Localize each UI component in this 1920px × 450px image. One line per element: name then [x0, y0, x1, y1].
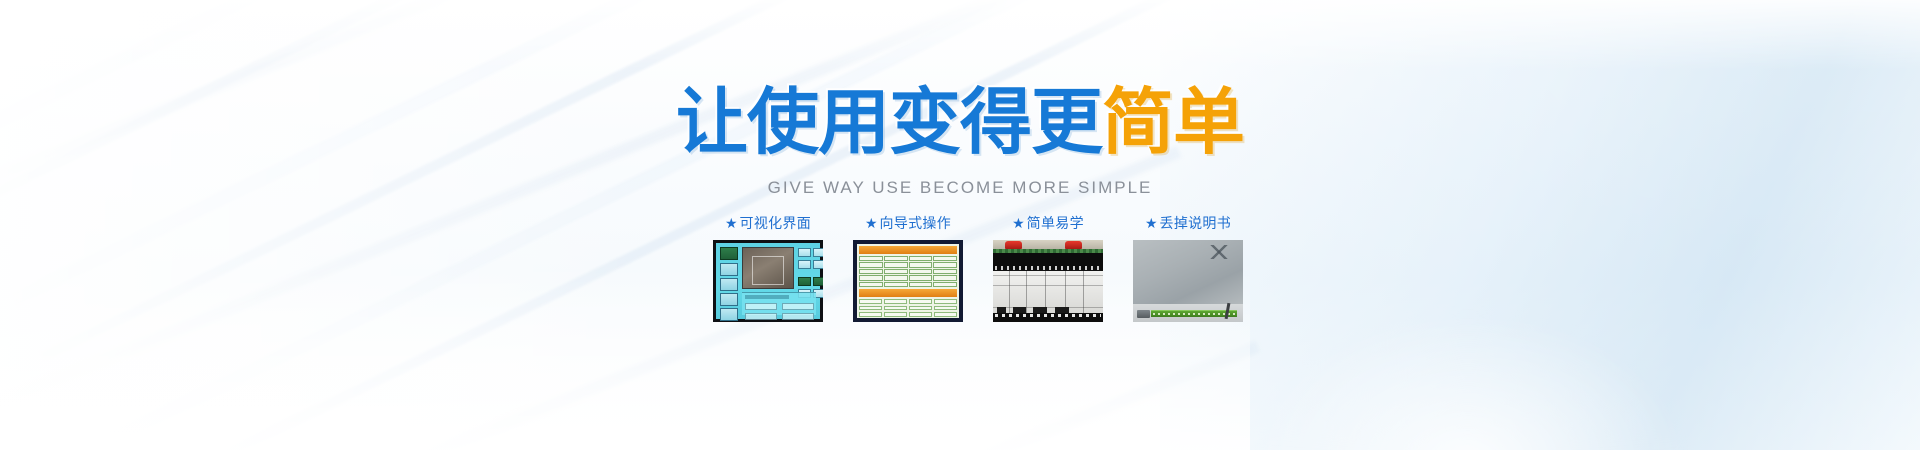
thumb-side-button — [720, 293, 738, 306]
thumb-camera-view — [742, 247, 794, 289]
thumb-checkbox-row — [782, 313, 814, 320]
thumb-grid-cell — [884, 299, 907, 304]
thumb-grid-cell — [859, 312, 882, 317]
thumb-grid-cell — [933, 256, 957, 261]
thumb-right-button — [798, 260, 811, 269]
thumb-grid-cell — [934, 299, 957, 304]
feature-list: ★ 可视化界面 — [698, 215, 1258, 322]
feature-item-visual-interface[interactable]: ★ 可视化界面 — [698, 215, 838, 322]
thumb-button-grid-top — [859, 256, 957, 287]
star-icon: ★ — [1145, 217, 1158, 231]
thumb-checkbox-row — [745, 303, 777, 310]
thumb-side-button — [720, 247, 738, 260]
banner-content: 让使用变得更简单 GIVE WAY USE BECOME MORE SIMPLE… — [0, 0, 1920, 450]
thumb-grid-cell — [859, 269, 883, 274]
feature-label-text: 可视化界面 — [740, 215, 812, 233]
thumb-right-button — [813, 277, 823, 286]
thumb-red-handle — [1005, 241, 1022, 249]
feature-thumbnail-easy-to-learn[interactable] — [993, 240, 1103, 322]
thumb-red-handle — [1065, 241, 1082, 249]
thumb-grid-cell — [909, 256, 933, 261]
banner-headline: 让使用变得更简单 — [0, 84, 1920, 160]
thumb-machine-bottom-band — [993, 313, 1103, 322]
thumb-section-header — [859, 289, 957, 297]
thumb-side-button — [720, 308, 738, 321]
feature-thumbnail-no-manual[interactable] — [1133, 240, 1243, 322]
thumb-grid-cell — [909, 299, 932, 304]
feature-label-text: 向导式操作 — [880, 215, 952, 233]
thumb-screen — [857, 244, 959, 318]
thumb-grid-cell — [909, 312, 932, 317]
thumb-grid-cell — [933, 262, 957, 267]
feature-thumbnail-wizard-operation[interactable] — [853, 240, 963, 322]
feature-item-easy-to-learn[interactable]: ★ 简单易学 — [978, 215, 1118, 322]
thumb-right-button — [813, 248, 823, 257]
thumb-device-marking — [1207, 245, 1231, 259]
thumb-grid-cell — [934, 306, 957, 311]
feature-item-no-manual[interactable]: ★ 丢掉说明书 — [1118, 215, 1258, 322]
thumb-grid-cell — [859, 262, 883, 267]
headline-accent-text: 简单 — [1102, 80, 1244, 164]
thumb-grid-cell — [859, 306, 882, 311]
thumb-grid-cell — [884, 262, 908, 267]
thumb-checkbox-row — [782, 303, 814, 310]
thumb-connector — [1137, 310, 1150, 318]
thumb-dot-row — [995, 266, 1101, 270]
thumb-grid-cell — [859, 299, 882, 304]
banner-subtitle: GIVE WAY USE BECOME MORE SIMPLE — [0, 178, 1920, 198]
thumb-label-panel — [993, 271, 1103, 313]
star-icon: ★ — [725, 217, 738, 231]
feature-label: ★ 丢掉说明书 — [1145, 215, 1231, 233]
feature-label-text: 丢掉说明书 — [1160, 215, 1232, 233]
thumb-checkbox-row — [745, 313, 777, 320]
thumb-grid-cell — [884, 306, 907, 311]
feature-thumbnail-visual-interface[interactable] — [713, 240, 823, 322]
thumb-grid-cell — [909, 269, 933, 274]
feature-label-text: 简单易学 — [1027, 215, 1084, 233]
headline-primary-text: 让使用变得更 — [676, 80, 1102, 164]
thumb-grid-cell — [934, 312, 957, 317]
thumb-grid-cell — [884, 312, 907, 317]
promo-banner: 让使用变得更简单 GIVE WAY USE BECOME MORE SIMPLE… — [0, 0, 1920, 450]
thumb-grid-cell — [884, 282, 908, 287]
thumb-grid-cell — [884, 256, 908, 261]
thumb-bottom-panel — [742, 292, 816, 315]
thumb-grid-cell — [859, 282, 883, 287]
thumb-panel-divider — [1083, 271, 1084, 313]
feature-item-wizard-operation[interactable]: ★ 向导式操作 — [838, 215, 978, 322]
star-icon: ★ — [1012, 217, 1025, 231]
thumb-side-button — [720, 278, 738, 291]
thumb-grid-cell — [909, 282, 933, 287]
thumb-grid-cell — [859, 256, 883, 261]
thumb-grid-cell — [884, 269, 908, 274]
thumb-panel-divider — [1009, 271, 1010, 313]
thumb-right-button — [798, 277, 811, 286]
thumb-grid-cell — [933, 275, 957, 280]
feature-label: ★ 可视化界面 — [725, 215, 811, 233]
thumb-side-button — [720, 263, 738, 276]
feature-label: ★ 简单易学 — [1012, 215, 1084, 233]
thumb-grid-cell — [859, 275, 883, 280]
thumb-section-header — [859, 246, 957, 254]
thumb-right-button — [813, 260, 823, 269]
thumb-button-grid-bottom — [859, 299, 957, 317]
thumb-grid-cell — [909, 275, 933, 280]
thumb-grid-cell — [909, 306, 932, 311]
thumb-grid-cell — [933, 282, 957, 287]
thumb-panel-title — [745, 295, 789, 299]
thumb-screen — [716, 243, 820, 319]
thumb-right-button — [798, 248, 811, 257]
thumb-grid-cell — [909, 262, 933, 267]
thumb-grid-cell — [884, 275, 908, 280]
thumb-grid-cell — [933, 269, 957, 274]
feature-label: ★ 向导式操作 — [865, 215, 951, 233]
star-icon: ★ — [865, 217, 878, 231]
thumb-panel-divider — [1026, 271, 1027, 313]
